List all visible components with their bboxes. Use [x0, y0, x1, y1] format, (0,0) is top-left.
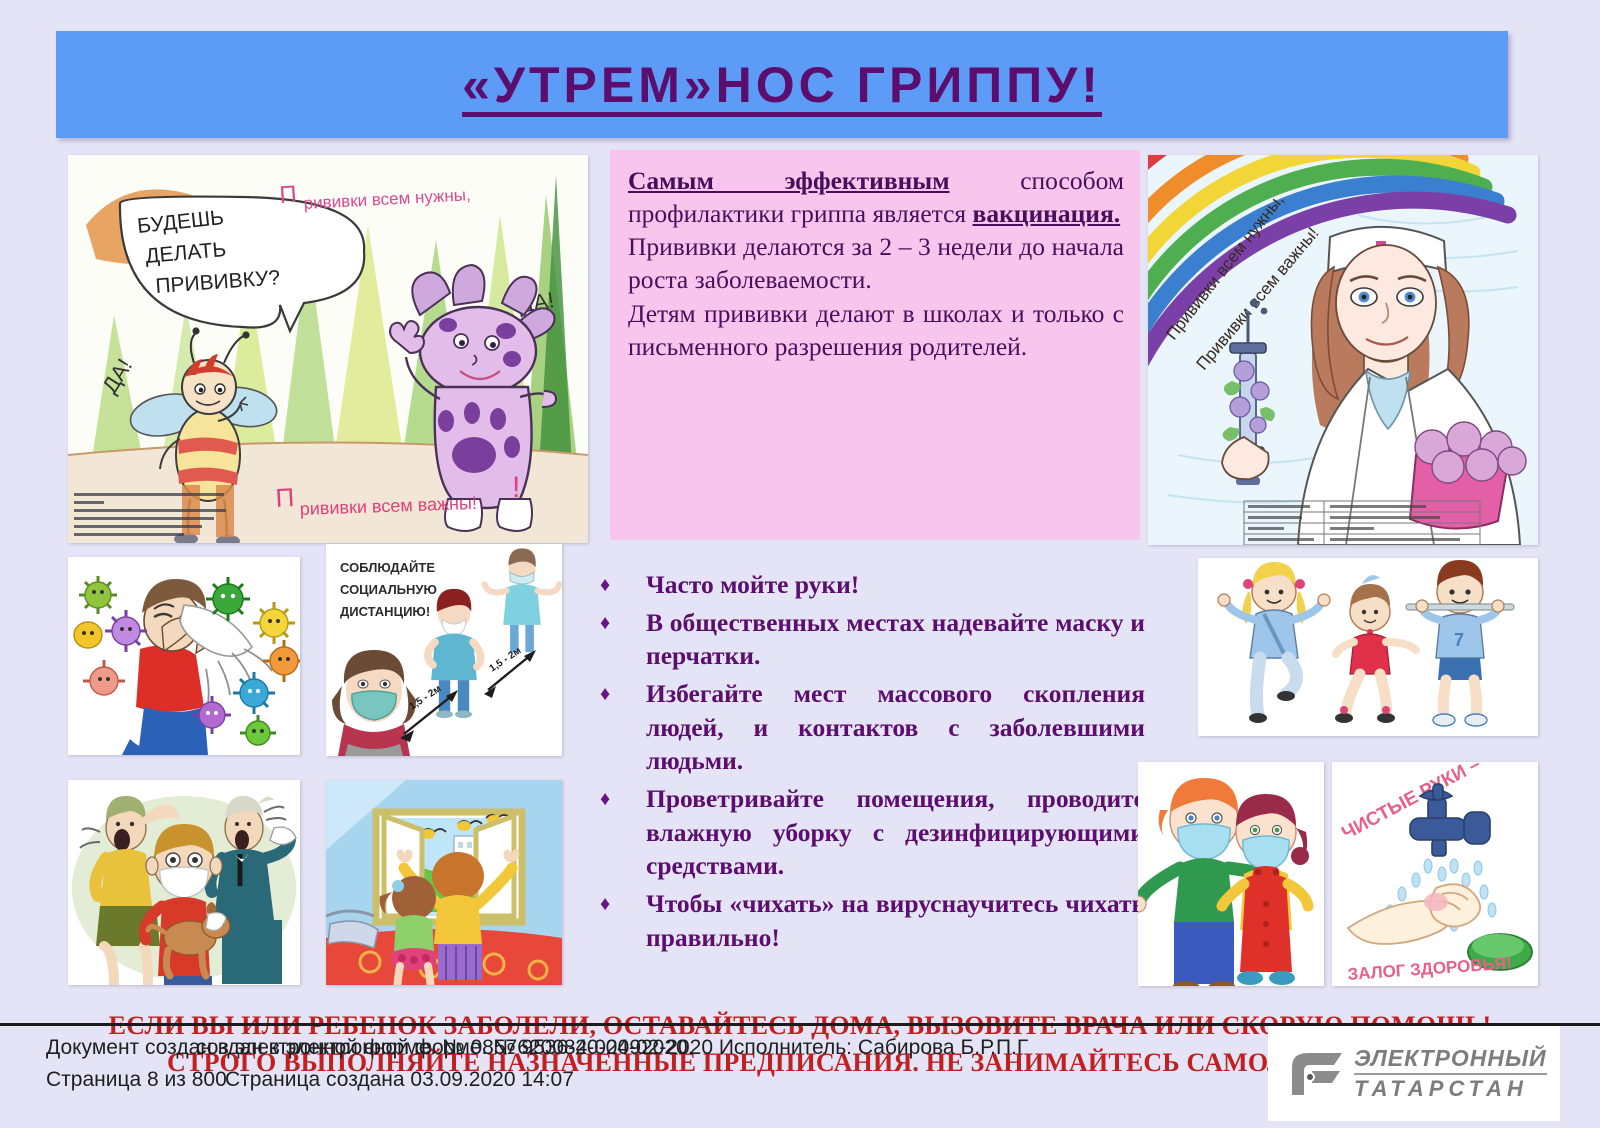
- tip-text: Проветривайте помещения, про­водите влаж…: [646, 782, 1145, 883]
- info-paragraph-3: Детям прививки делают в шко­лах и только…: [628, 297, 1124, 363]
- logo-line-2: ТАТАРСТАН: [1354, 1073, 1547, 1100]
- document-line-1-overlap: создан в электронной форме. № 9536-20-04…: [196, 1036, 1028, 1060]
- distance-caption-3: ДИСТАНЦИЮ!: [340, 604, 430, 619]
- distance-caption-2: СОЦИАЛЬНУЮ: [340, 582, 437, 597]
- list-item: ♦ Часто мойте руки!: [600, 568, 1145, 602]
- prevention-tips-list: ♦ Часто мойте руки! ♦ В общественных мес…: [600, 568, 1145, 992]
- artwork-kids-vaccination-drawing: БУДЕШЬ ДЕЛАТЬ ПРИВИВКУ? П рививки всем н…: [68, 155, 588, 543]
- info-paragraph-1: Самым эффективным способом профилактики …: [628, 164, 1124, 230]
- diamond-bullet-icon: ♦: [600, 887, 646, 917]
- image-exercising-children: 7: [1198, 558, 1538, 736]
- image-clean-hands-poster: ЧИСТЫЕ РУКИ –: [1332, 762, 1538, 986]
- page-title: «УТРЕМ»НОС ГРИППУ!: [462, 56, 1102, 114]
- tip-text: Избегайте мест массового скопле­ния люде…: [646, 677, 1145, 778]
- list-item: ♦ В общественных местах надевай­те маску…: [600, 606, 1145, 673]
- artwork-nurse-rainbow-drawing: Прививки всем нужны, Прививки всем важны…: [1148, 155, 1538, 545]
- tip-text: В общественных местах надевай­те маску и…: [646, 606, 1145, 673]
- diamond-bullet-icon: ♦: [600, 677, 646, 707]
- logo-mark-icon: [1290, 1051, 1344, 1097]
- distance-caption-1: СОБЛЮДАЙТЕ: [340, 560, 435, 575]
- info-emphasis-2: вакцинация.: [973, 199, 1121, 228]
- vaccination-info-box: Самым эффективным способом профилактики …: [610, 150, 1140, 540]
- list-item: ♦ Проветривайте помещения, про­водите вл…: [600, 782, 1145, 883]
- poster-title-banner: «УТРЕМ»НОС ГРИППУ!: [56, 31, 1508, 138]
- diamond-bullet-icon: ♦: [600, 606, 646, 636]
- image-sneezing-man-viruses: [68, 557, 300, 755]
- svg-text:П: П: [275, 482, 295, 513]
- info-paragraph-2: Прививки делаются за 2 – 3 не­дели до на…: [628, 230, 1124, 296]
- diamond-bullet-icon: ♦: [600, 568, 646, 598]
- image-children-opening-window: [326, 780, 562, 985]
- svg-text:7: 7: [1454, 630, 1464, 650]
- image-two-masked-children: [1138, 762, 1324, 986]
- image-social-distancing: СОБЛЮДАЙТЕ СОЦИАЛЬНУЮ ДИСТАНЦИЮ!: [326, 544, 562, 756]
- info-emphasis-1: Самым эффективным: [628, 166, 950, 195]
- list-item: ♦ Чтобы «чихать» на вирус­научитесь чиха…: [600, 887, 1145, 988]
- list-item: ♦ Избегайте мест массового скопле­ния лю…: [600, 677, 1145, 778]
- document-line-2: Страница 8 из 800: [46, 1068, 227, 1092]
- tip-text: Часто мойте руки!: [646, 568, 1145, 602]
- poster-page: «УТРЕМ»НОС ГРИППУ!: [0, 0, 1600, 1128]
- image-masked-boy-with-adults: [68, 780, 300, 985]
- tip-text: Чтобы «чихать» на вирус­научитесь чихать…: [646, 887, 1145, 988]
- svg-text:!: !: [512, 471, 520, 504]
- electronic-tatarstan-logo: ЭЛЕКТРОННЫЙ ТАТАРСТАН: [1268, 1026, 1560, 1121]
- logo-wordmark: ЭЛЕКТРОННЫЙ ТАТАРСТАН: [1354, 1047, 1547, 1100]
- logo-line-1: ЭЛЕКТРОННЫЙ: [1354, 1047, 1547, 1070]
- document-line-2-overlap: Страница создана 03.09.2020 14:07: [225, 1068, 574, 1092]
- svg-text:П: П: [279, 181, 298, 209]
- diamond-bullet-icon: ♦: [600, 782, 646, 812]
